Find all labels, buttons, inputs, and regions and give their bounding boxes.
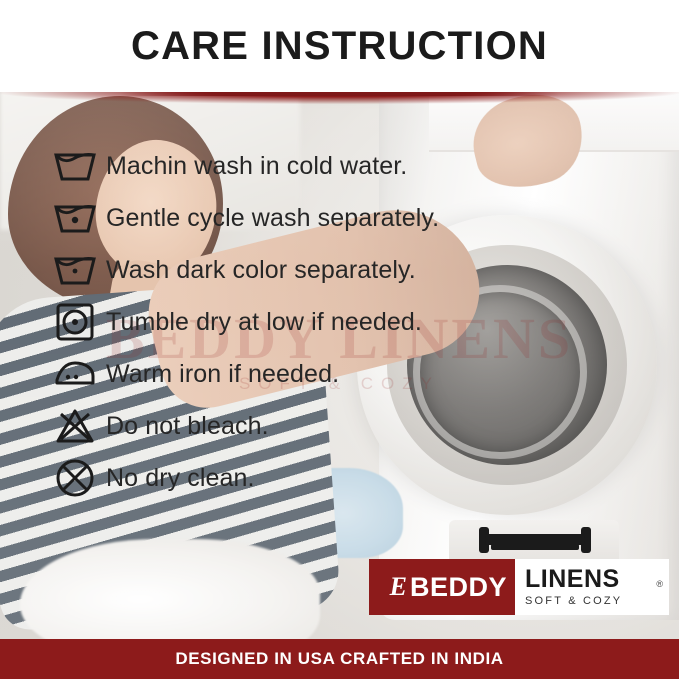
footer: DESIGNED IN USA CRAFTED IN INDIA [0,639,679,679]
list-item-label: Do not bleach. [106,412,269,441]
list-item: Machin wash in cold water. [44,140,604,192]
brand-name-left: BEDDY [410,572,507,603]
brand-logo: E BEDDY LINENS SOFT & COZY ® [369,541,669,631]
no-dry-clean-icon [44,458,106,498]
brand-tagline: SOFT & COZY [525,595,669,607]
brand-name-right: LINENS [525,567,669,592]
do-not-bleach-icon [44,408,106,444]
list-item: No dry clean. [44,452,604,504]
brand-right: LINENS SOFT & COZY [515,559,669,615]
brand-bar: E BEDDY LINENS SOFT & COZY ® [369,559,669,615]
list-item-label: Warm iron if needed. [106,360,339,389]
tumble-dry-low-icon [44,302,106,342]
page-title: CARE INSTRUCTION [131,24,548,69]
list-item: Wash dark color separately. [44,244,604,296]
list-item-label: Machin wash in cold water. [106,152,407,181]
list-item-label: Gentle cycle wash separately. [106,204,439,233]
header-divider [0,92,679,104]
registered-mark: ® [656,579,663,589]
brand-left: E BEDDY [369,559,515,615]
list-item-label: Wash dark color separately. [106,256,416,285]
list-item-label: No dry clean. [106,464,255,493]
list-item: Do not bleach. [44,400,604,452]
list-item-label: Tumble dry at low if needed. [106,308,422,337]
warm-iron-icon [44,358,106,390]
footer-text: DESIGNED IN USA CRAFTED IN INDIA [175,649,503,669]
instruction-list: Machin wash in cold water. Gentle cycle … [44,140,604,504]
gentle-cycle-wash-icon [44,201,106,235]
list-item: Warm iron if needed. [44,348,604,400]
machine-wash-icon [44,149,106,183]
care-instruction-card: BEDDY LINENS SOFT & COZY CARE INSTRUCTIO… [0,0,679,679]
bed-icon [477,525,593,559]
list-item: Gentle cycle wash separately. [44,192,604,244]
header: CARE INSTRUCTION [0,0,679,92]
brand-monogram: E [390,572,407,602]
wash-dark-color-icon [44,253,106,287]
list-item: Tumble dry at low if needed. [44,296,604,348]
